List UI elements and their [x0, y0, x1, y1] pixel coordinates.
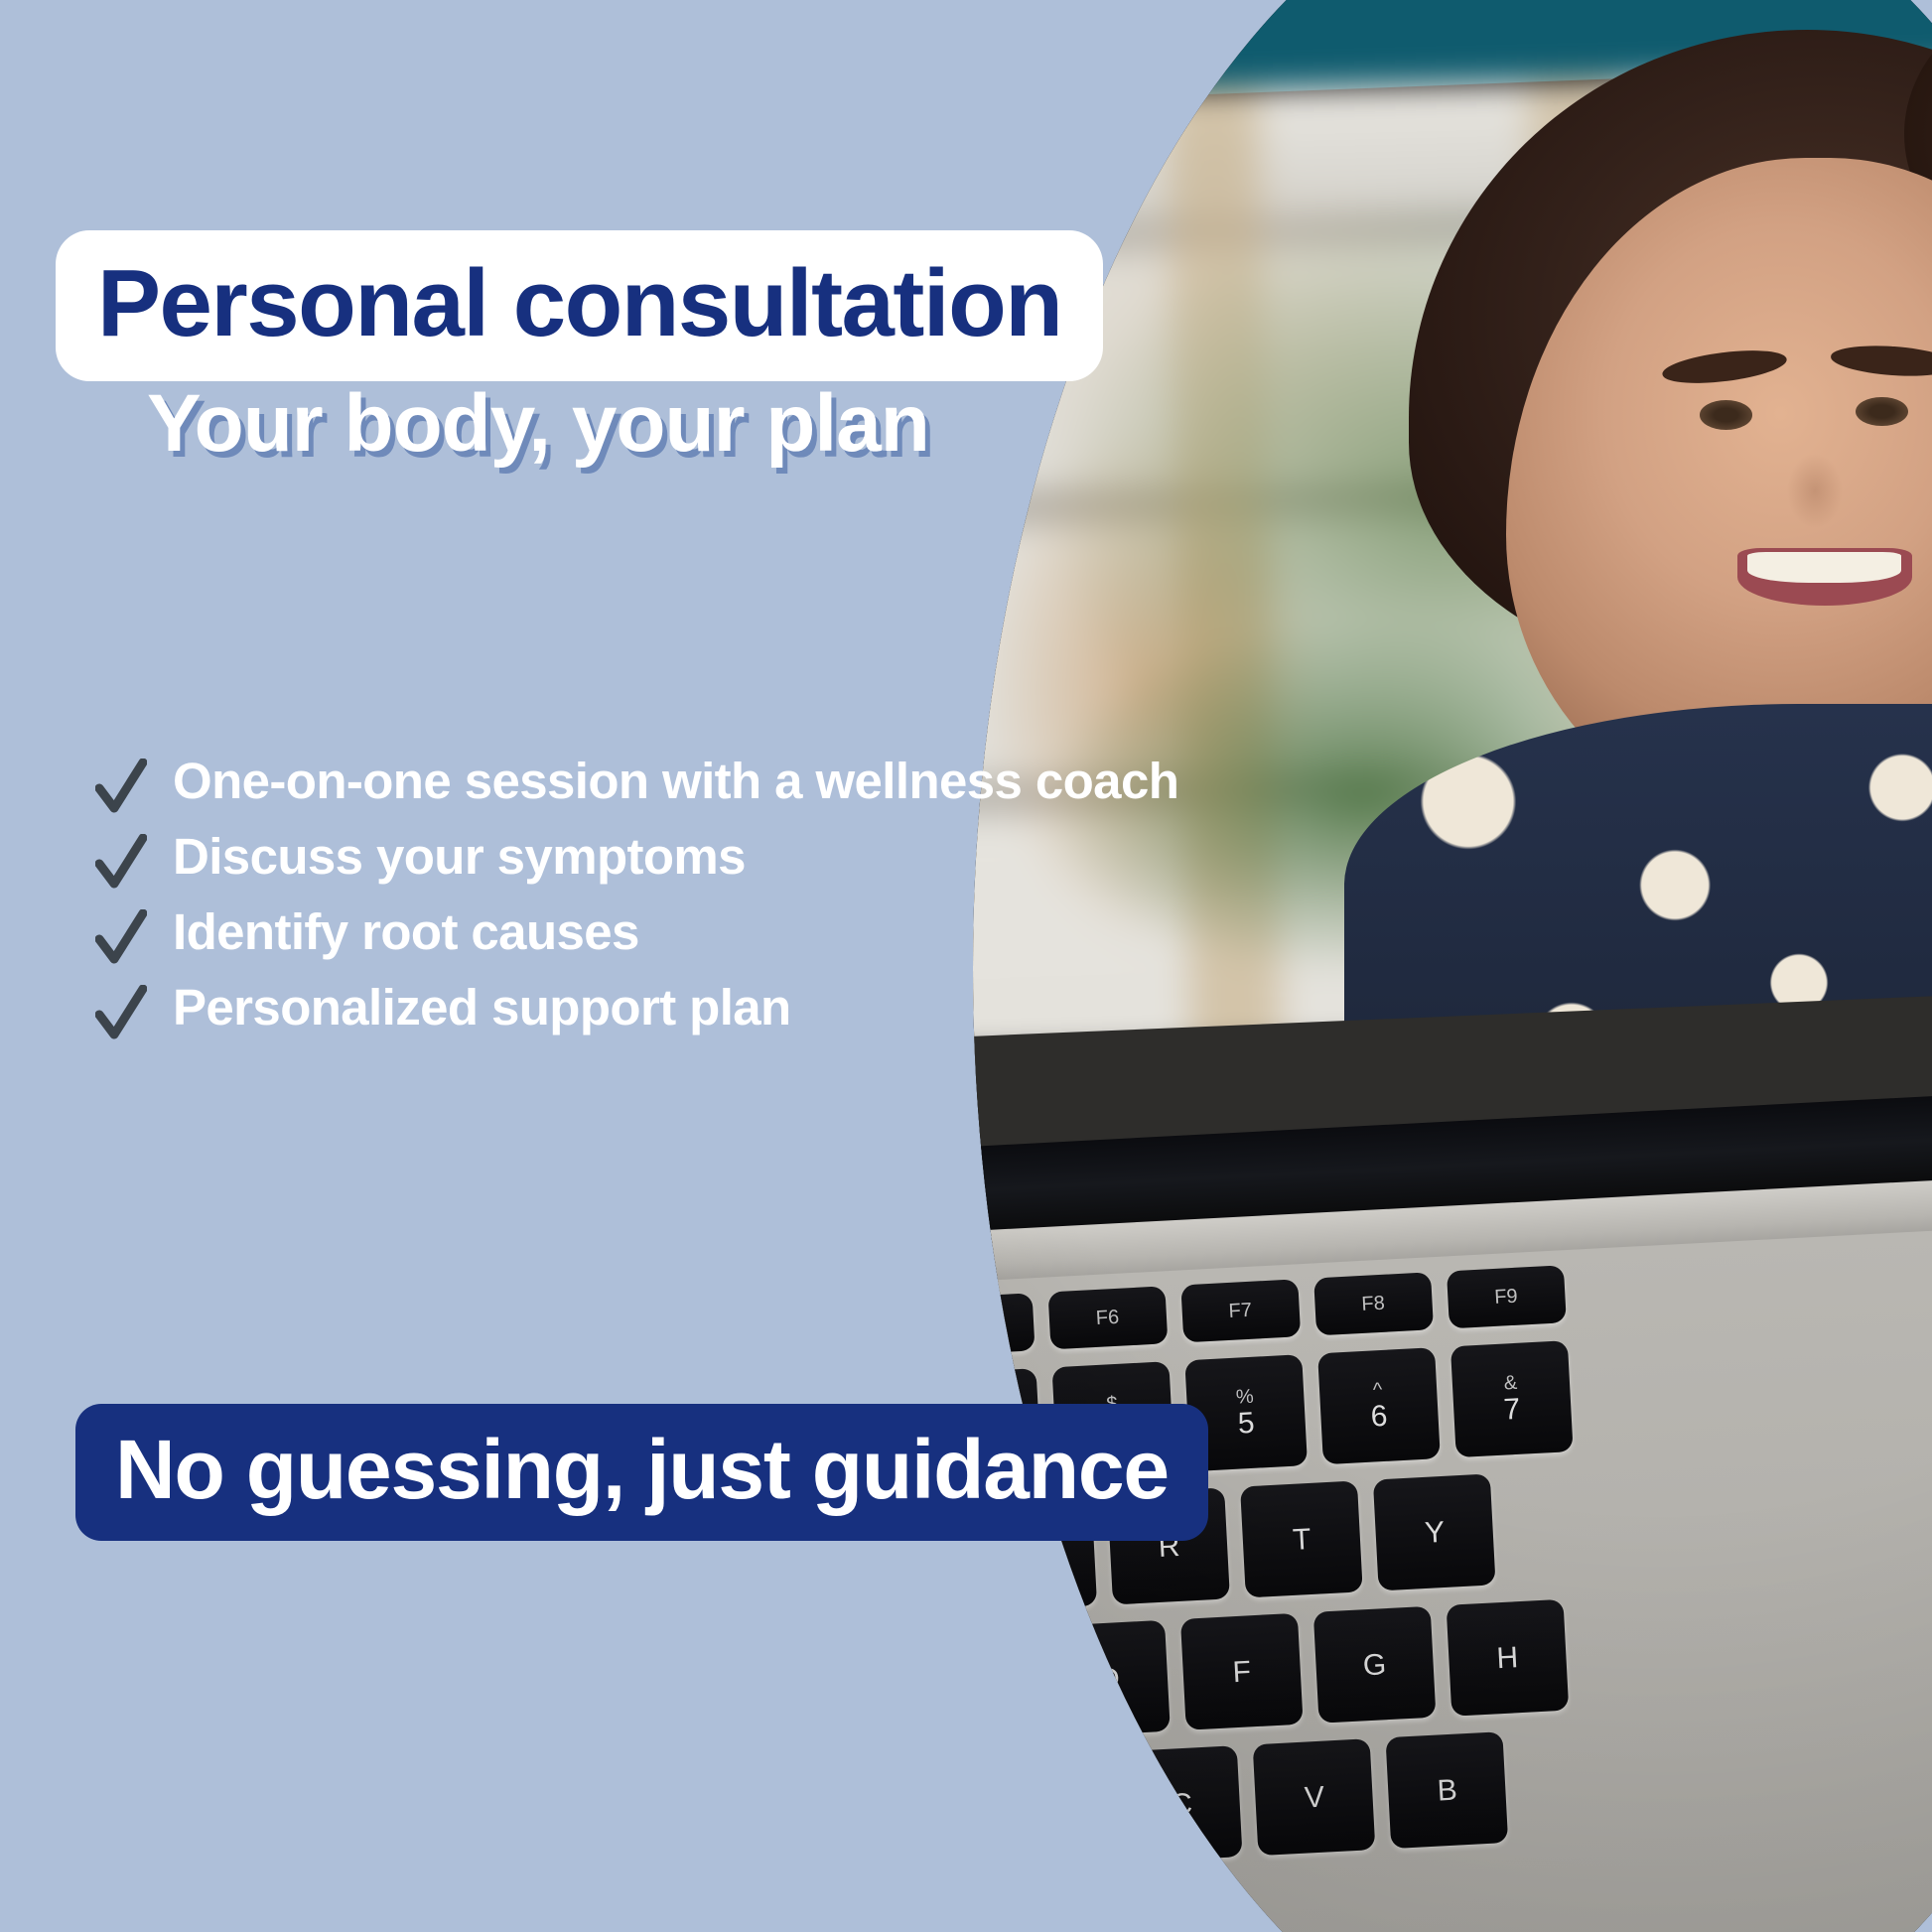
key-symbol: &	[1503, 1372, 1517, 1393]
key-symbol: %	[1235, 1386, 1254, 1407]
smiling-mouth	[1737, 548, 1912, 606]
benefits-list: One-on-one session with a wellness coach…	[95, 755, 1187, 1056]
keyboard-key: F8	[1313, 1272, 1434, 1335]
keyboard-key: H	[1447, 1599, 1570, 1717]
teeth	[1747, 552, 1901, 583]
list-item-label: One-on-one session with a wellness coach	[173, 755, 1178, 807]
key-label: E	[1026, 1536, 1047, 1570]
key-label: T	[1292, 1522, 1311, 1556]
keyboard-key: D	[1047, 1620, 1171, 1737]
key-label: G	[1362, 1648, 1387, 1682]
title-pill: Personal consultation	[56, 230, 1103, 381]
key-symbol: F7	[1228, 1301, 1252, 1321]
key-label: F	[1232, 1655, 1252, 1689]
key-symbol: ^	[1372, 1379, 1382, 1399]
nose	[1787, 454, 1844, 528]
keyboard-key: B	[1386, 1731, 1509, 1849]
keyboard-key: V	[1253, 1738, 1376, 1856]
eyebrow-right	[1830, 342, 1932, 378]
list-item: One-on-one session with a wellness coach	[95, 755, 1187, 812]
page-title: Personal consultation	[97, 256, 1061, 351]
key-label: V	[1304, 1780, 1325, 1814]
list-item: Discuss your symptoms	[95, 830, 1187, 888]
list-item-label: Discuss your symptoms	[173, 830, 746, 883]
check-icon	[95, 759, 147, 816]
eye-left	[1700, 400, 1752, 430]
keyboard-key: F5	[973, 1293, 1035, 1356]
key-symbol: F5	[973, 1314, 987, 1335]
keyboard-key: Y	[1373, 1473, 1496, 1590]
key-label: H	[1496, 1641, 1519, 1675]
key-label: 7	[1503, 1392, 1521, 1426]
eyebrow-left	[1661, 345, 1788, 389]
cta-label: No guessing, just guidance	[115, 1428, 1169, 1511]
cta-banner: No guessing, just guidance	[75, 1404, 1208, 1541]
promo-poster: F5F6F7F8F9 #3$4%5^6&7 ERTY DFGH CVB Pers…	[0, 0, 1932, 1932]
list-item: Identify root causes	[95, 905, 1187, 963]
keyboard-key: F7	[1180, 1279, 1301, 1342]
laptop-keyboard: F5F6F7F8F9 #3$4%5^6&7 ERTY DFGH CVB	[973, 1201, 1932, 1932]
key-label: Y	[1424, 1515, 1446, 1549]
key-symbol: F9	[1494, 1287, 1518, 1308]
keyboard-key: F6	[1047, 1286, 1168, 1349]
keyboard-key: T	[1240, 1480, 1363, 1597]
page-subtitle: Your body, your plan	[147, 383, 929, 465]
list-item: Personalized support plan	[95, 981, 1187, 1038]
check-icon	[95, 834, 147, 892]
check-icon	[95, 909, 147, 967]
eye-right	[1856, 397, 1908, 427]
key-symbol: F8	[1361, 1294, 1385, 1314]
list-item-label: Personalized support plan	[173, 981, 791, 1034]
key-label: 5	[1237, 1406, 1255, 1440]
keyboard-key: F	[1180, 1613, 1304, 1730]
keyboard-key: &7	[1449, 1340, 1573, 1457]
key-label: 6	[1370, 1399, 1388, 1433]
check-icon	[95, 985, 147, 1042]
key-symbol: F6	[1095, 1308, 1119, 1328]
key-label: B	[1437, 1773, 1458, 1807]
key-label: C	[1170, 1787, 1192, 1821]
keyboard-key: F9	[1446, 1265, 1566, 1328]
keyboard-key: C	[1120, 1745, 1243, 1863]
keyboard-key: G	[1313, 1606, 1437, 1724]
key-label: D	[1097, 1662, 1120, 1696]
keyboard-key: ^6	[1317, 1347, 1441, 1464]
list-item-label: Identify root causes	[173, 905, 639, 958]
